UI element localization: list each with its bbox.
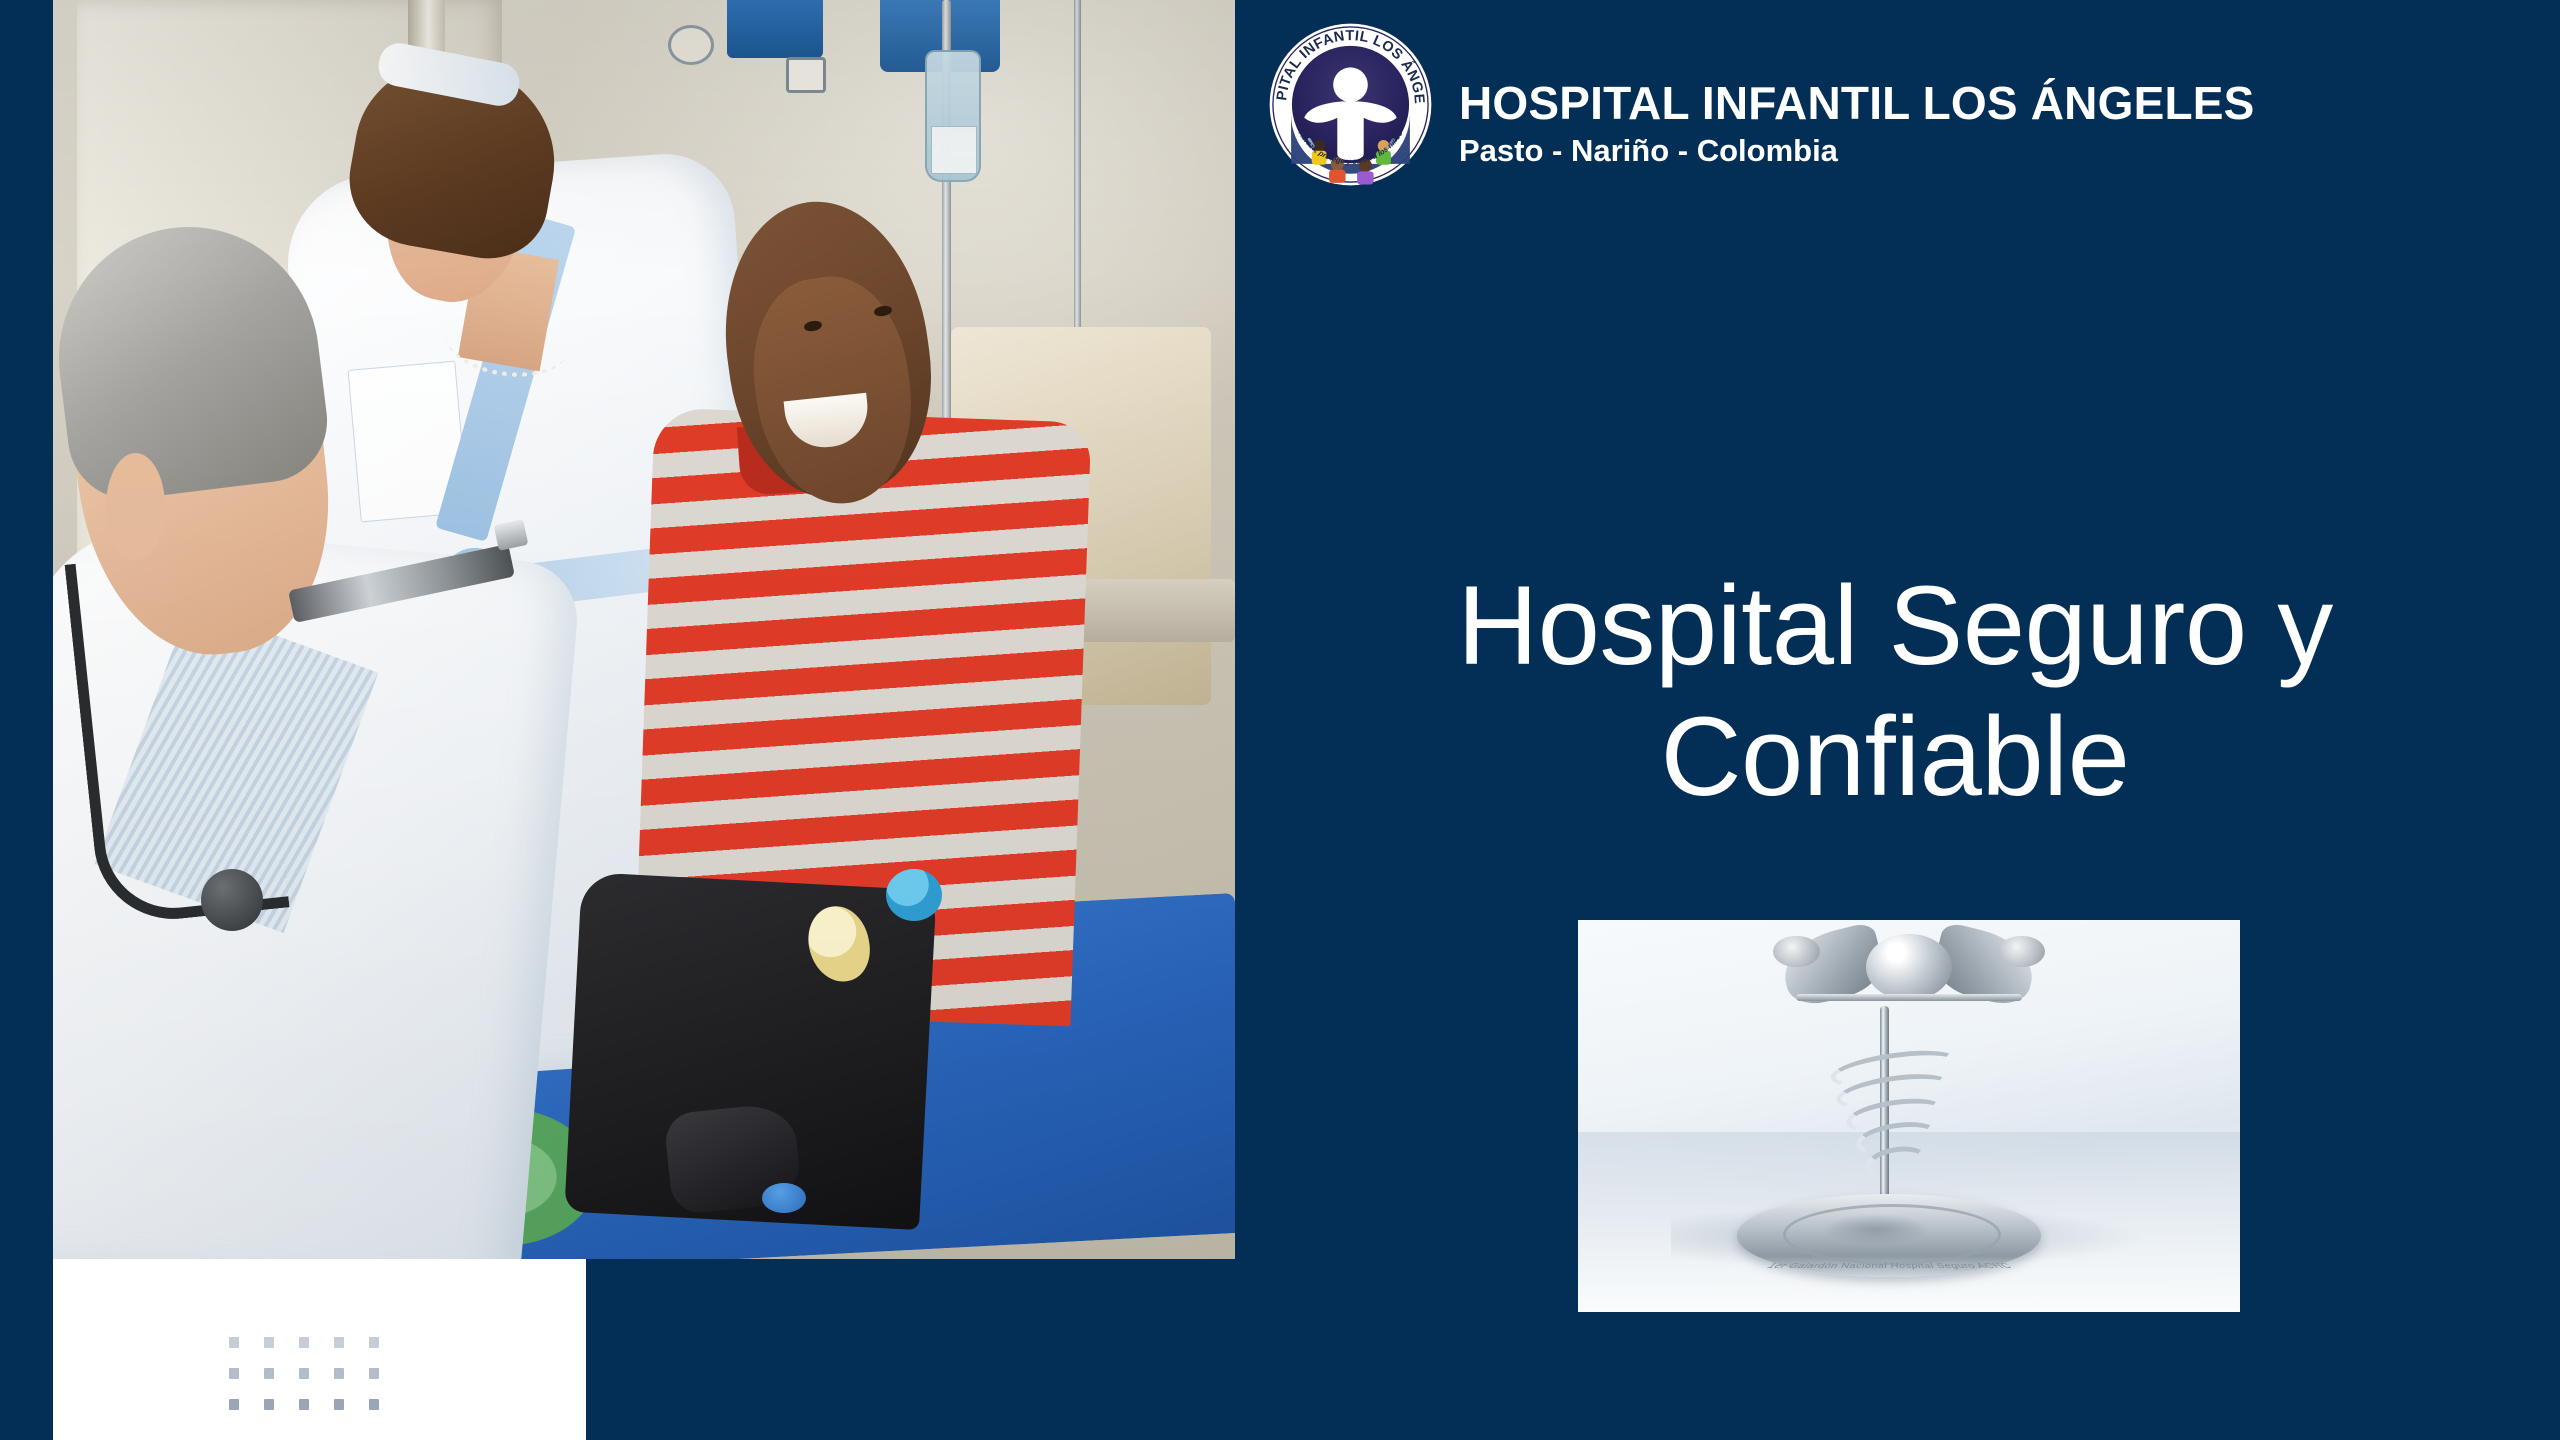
dot xyxy=(334,1399,344,1410)
dot xyxy=(229,1368,239,1379)
dot xyxy=(264,1368,274,1379)
hospital-photo xyxy=(53,0,1235,1259)
dot xyxy=(229,1399,239,1410)
dot xyxy=(334,1368,344,1379)
hospital-seal-logo: HOSPITAL INFANTIL LOS ÁNGELES Abraza, pr… xyxy=(1268,22,1433,187)
brand-subtitle: Pasto - Nariño - Colombia xyxy=(1459,128,2255,175)
page-title: Hospital Seguro y Confiable xyxy=(1290,560,2500,822)
brand-text-block: HOSPITAL INFANTIL LOS ÁNGELES Pasto - Na… xyxy=(1459,35,2255,174)
trophy-finial-left xyxy=(1773,936,1819,967)
dot xyxy=(299,1337,309,1348)
brand-title: HOSPITAL INFANTIL LOS ÁNGELES xyxy=(1459,79,2255,128)
photo-vignette xyxy=(53,0,1235,1259)
dot xyxy=(264,1399,274,1410)
headline-line-1: Hospital Seguro y xyxy=(1290,560,2500,691)
trophy-base-emblem xyxy=(1823,1214,1929,1245)
dot-grid-decoration xyxy=(229,1337,382,1412)
brand-header: HOSPITAL INFANTIL LOS ÁNGELES Abraza, pr… xyxy=(1268,22,2255,187)
dot xyxy=(299,1368,309,1379)
dot xyxy=(334,1337,344,1348)
trophy-orb xyxy=(1866,934,1952,1001)
trophy-engraving: 1er Galardón Nacional Hospital Seguro AC… xyxy=(1738,1262,2041,1269)
white-accent-panel xyxy=(53,1259,586,1440)
headline-line-2: Confiable xyxy=(1290,691,2500,822)
dot xyxy=(229,1337,239,1348)
trophy-crossbar xyxy=(1796,994,2021,1001)
dot xyxy=(369,1399,379,1410)
trophy-finial-right xyxy=(1998,936,2044,967)
dot xyxy=(369,1368,379,1379)
photo-scene xyxy=(53,0,1235,1259)
award-trophy-image: 1er Galardón Nacional Hospital Seguro AC… xyxy=(1578,920,2240,1312)
dot xyxy=(264,1337,274,1348)
dot xyxy=(369,1337,379,1348)
presentation-slide: HOSPITAL INFANTIL LOS ÁNGELES Abraza, pr… xyxy=(0,0,2560,1440)
dot xyxy=(299,1399,309,1410)
